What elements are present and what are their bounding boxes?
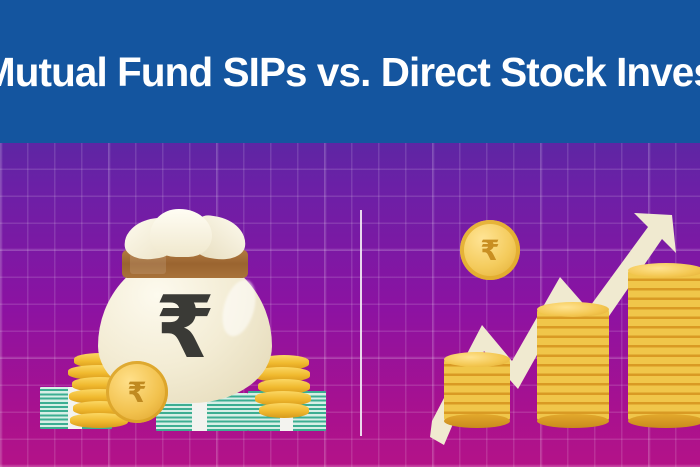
knot-fold-center	[150, 209, 212, 257]
coin-stack-small	[444, 352, 510, 428]
coin-stack-body	[628, 270, 700, 421]
coin-stack-top	[628, 263, 700, 278]
growth-chart-illustration: ₹	[420, 205, 690, 445]
rupee-coin-front: ₹	[106, 361, 168, 423]
floating-rupee-coin: ₹	[460, 220, 520, 280]
coin-stack-base	[628, 414, 700, 428]
coin-stack-large	[628, 263, 700, 428]
coin-stack-medium	[537, 302, 609, 428]
coin-stack-base	[537, 414, 609, 428]
coin-stack-base	[444, 414, 510, 428]
vertical-divider	[360, 210, 362, 436]
rupee-symbol-icon: ₹	[98, 285, 272, 371]
money-bag-knot	[124, 209, 246, 261]
page-title: Mutual Fund SIPs vs. Direct Stock Invest…	[0, 47, 700, 97]
coin-stack-top	[444, 352, 510, 367]
title-banner: Mutual Fund SIPs vs. Direct Stock Invest…	[0, 0, 700, 143]
money-bag-illustration: ₹ ₹	[40, 205, 330, 450]
coin-stack-body	[537, 309, 609, 421]
coin-stack-top	[537, 302, 609, 317]
coin	[259, 403, 309, 418]
illustration-canvas: ₹ ₹ ₹	[0, 0, 700, 467]
coin-stack-body	[444, 359, 510, 421]
